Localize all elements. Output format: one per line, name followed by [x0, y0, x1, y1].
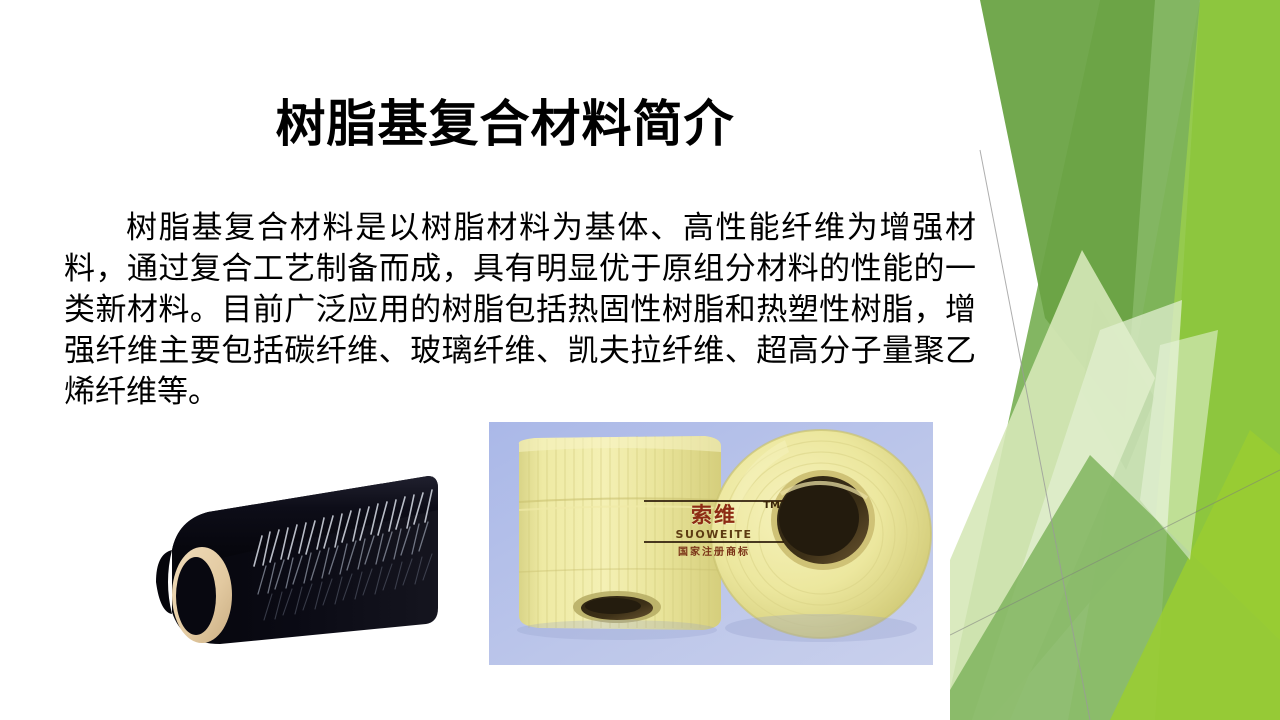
decor-hairline-2 — [950, 470, 1280, 635]
slide-title: 树脂基复合材料简介 — [0, 96, 1010, 152]
decor-shape-bright-green — [1068, 0, 1280, 720]
decor-shape-pale-green — [950, 250, 1155, 720]
carbon-fiber-tow-photo — [142, 462, 438, 652]
decor-shape-bright-lower — [1110, 430, 1280, 720]
carbon-fiber-left-cap — [156, 550, 172, 614]
decor-hairline-1 — [980, 150, 1090, 720]
slide-body-text: 树脂基复合材料是以树脂材料为基体、高性能纤维为增强材料，通过复合工艺制备而成，具… — [64, 208, 976, 413]
decor-shape-lime-right — [1155, 0, 1280, 720]
aramid-fiber-svg — [489, 422, 933, 665]
aramid-fiber-spools-photo: 索维 TM SUOWEITE 国家注册商标 — [489, 422, 933, 665]
aramid-spool-left — [519, 436, 721, 630]
decor-shape-soft-light — [1140, 330, 1218, 560]
decor-shape-pale-lower — [950, 455, 1280, 720]
decor-shape-dark-green — [980, 0, 1155, 420]
carbon-fiber-core-inner — [176, 557, 216, 635]
decor-shape-very-pale-green — [972, 300, 1182, 720]
decor-shape-dark-accent — [1082, 300, 1155, 470]
slide-canvas: 树脂基复合材料简介 树脂基复合材料是以树脂材料为基体、高性能纤维为增强材料，通过… — [0, 0, 1280, 720]
carbon-fiber-svg — [142, 462, 438, 652]
